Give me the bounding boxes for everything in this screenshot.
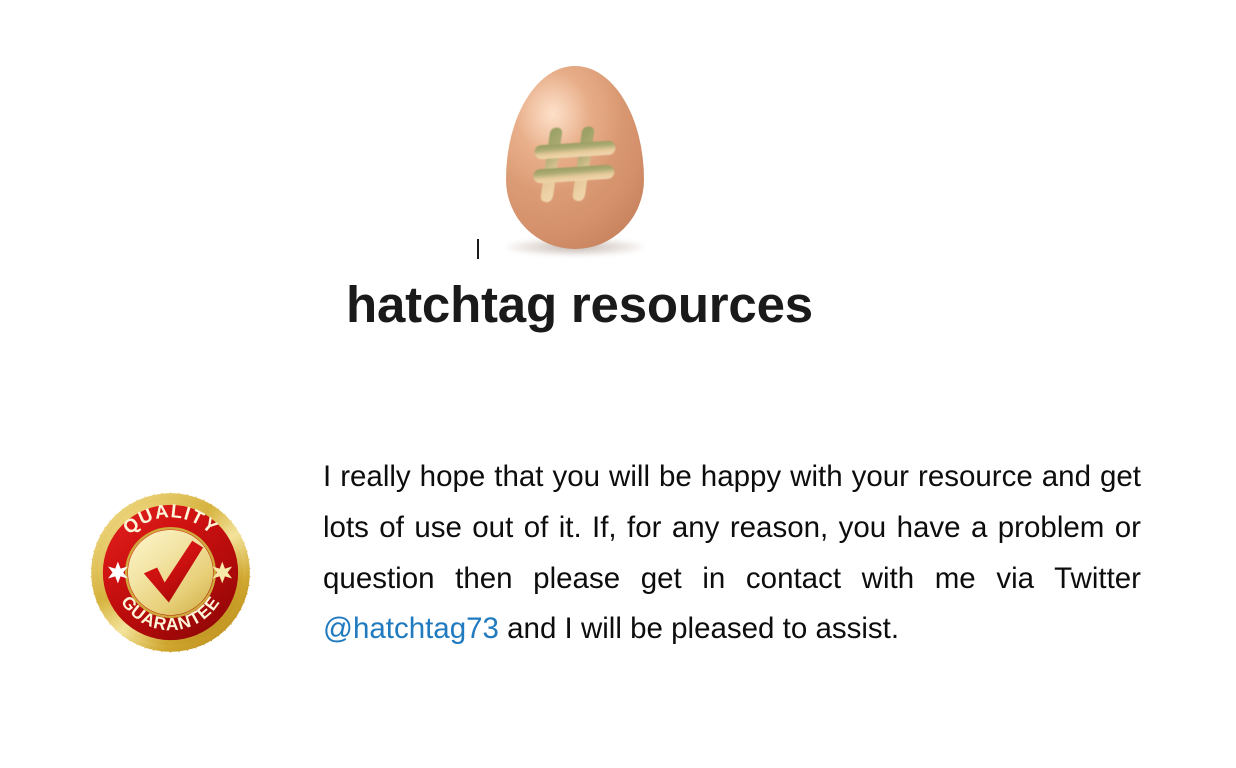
quality-guarantee-seal: QUALITY GUARANTEE xyxy=(87,489,254,656)
hashtag-icon xyxy=(531,124,620,205)
page-title: hatchtag resources xyxy=(346,279,813,330)
seal-graphic: QUALITY GUARANTEE xyxy=(87,489,254,656)
twitter-handle-link[interactable]: @hatchtag73 xyxy=(323,612,499,645)
egg-hashtag-logo xyxy=(500,60,650,260)
body-text-part2: and I will be pleased to assist. xyxy=(499,612,899,645)
body-text-part1: I really hope that you will be happy wit… xyxy=(323,460,1141,595)
body-paragraph: I really hope that you will be happy wit… xyxy=(323,452,1141,655)
slide-canvas: hatchtag resources xyxy=(0,0,1236,768)
text-caret xyxy=(477,239,479,259)
